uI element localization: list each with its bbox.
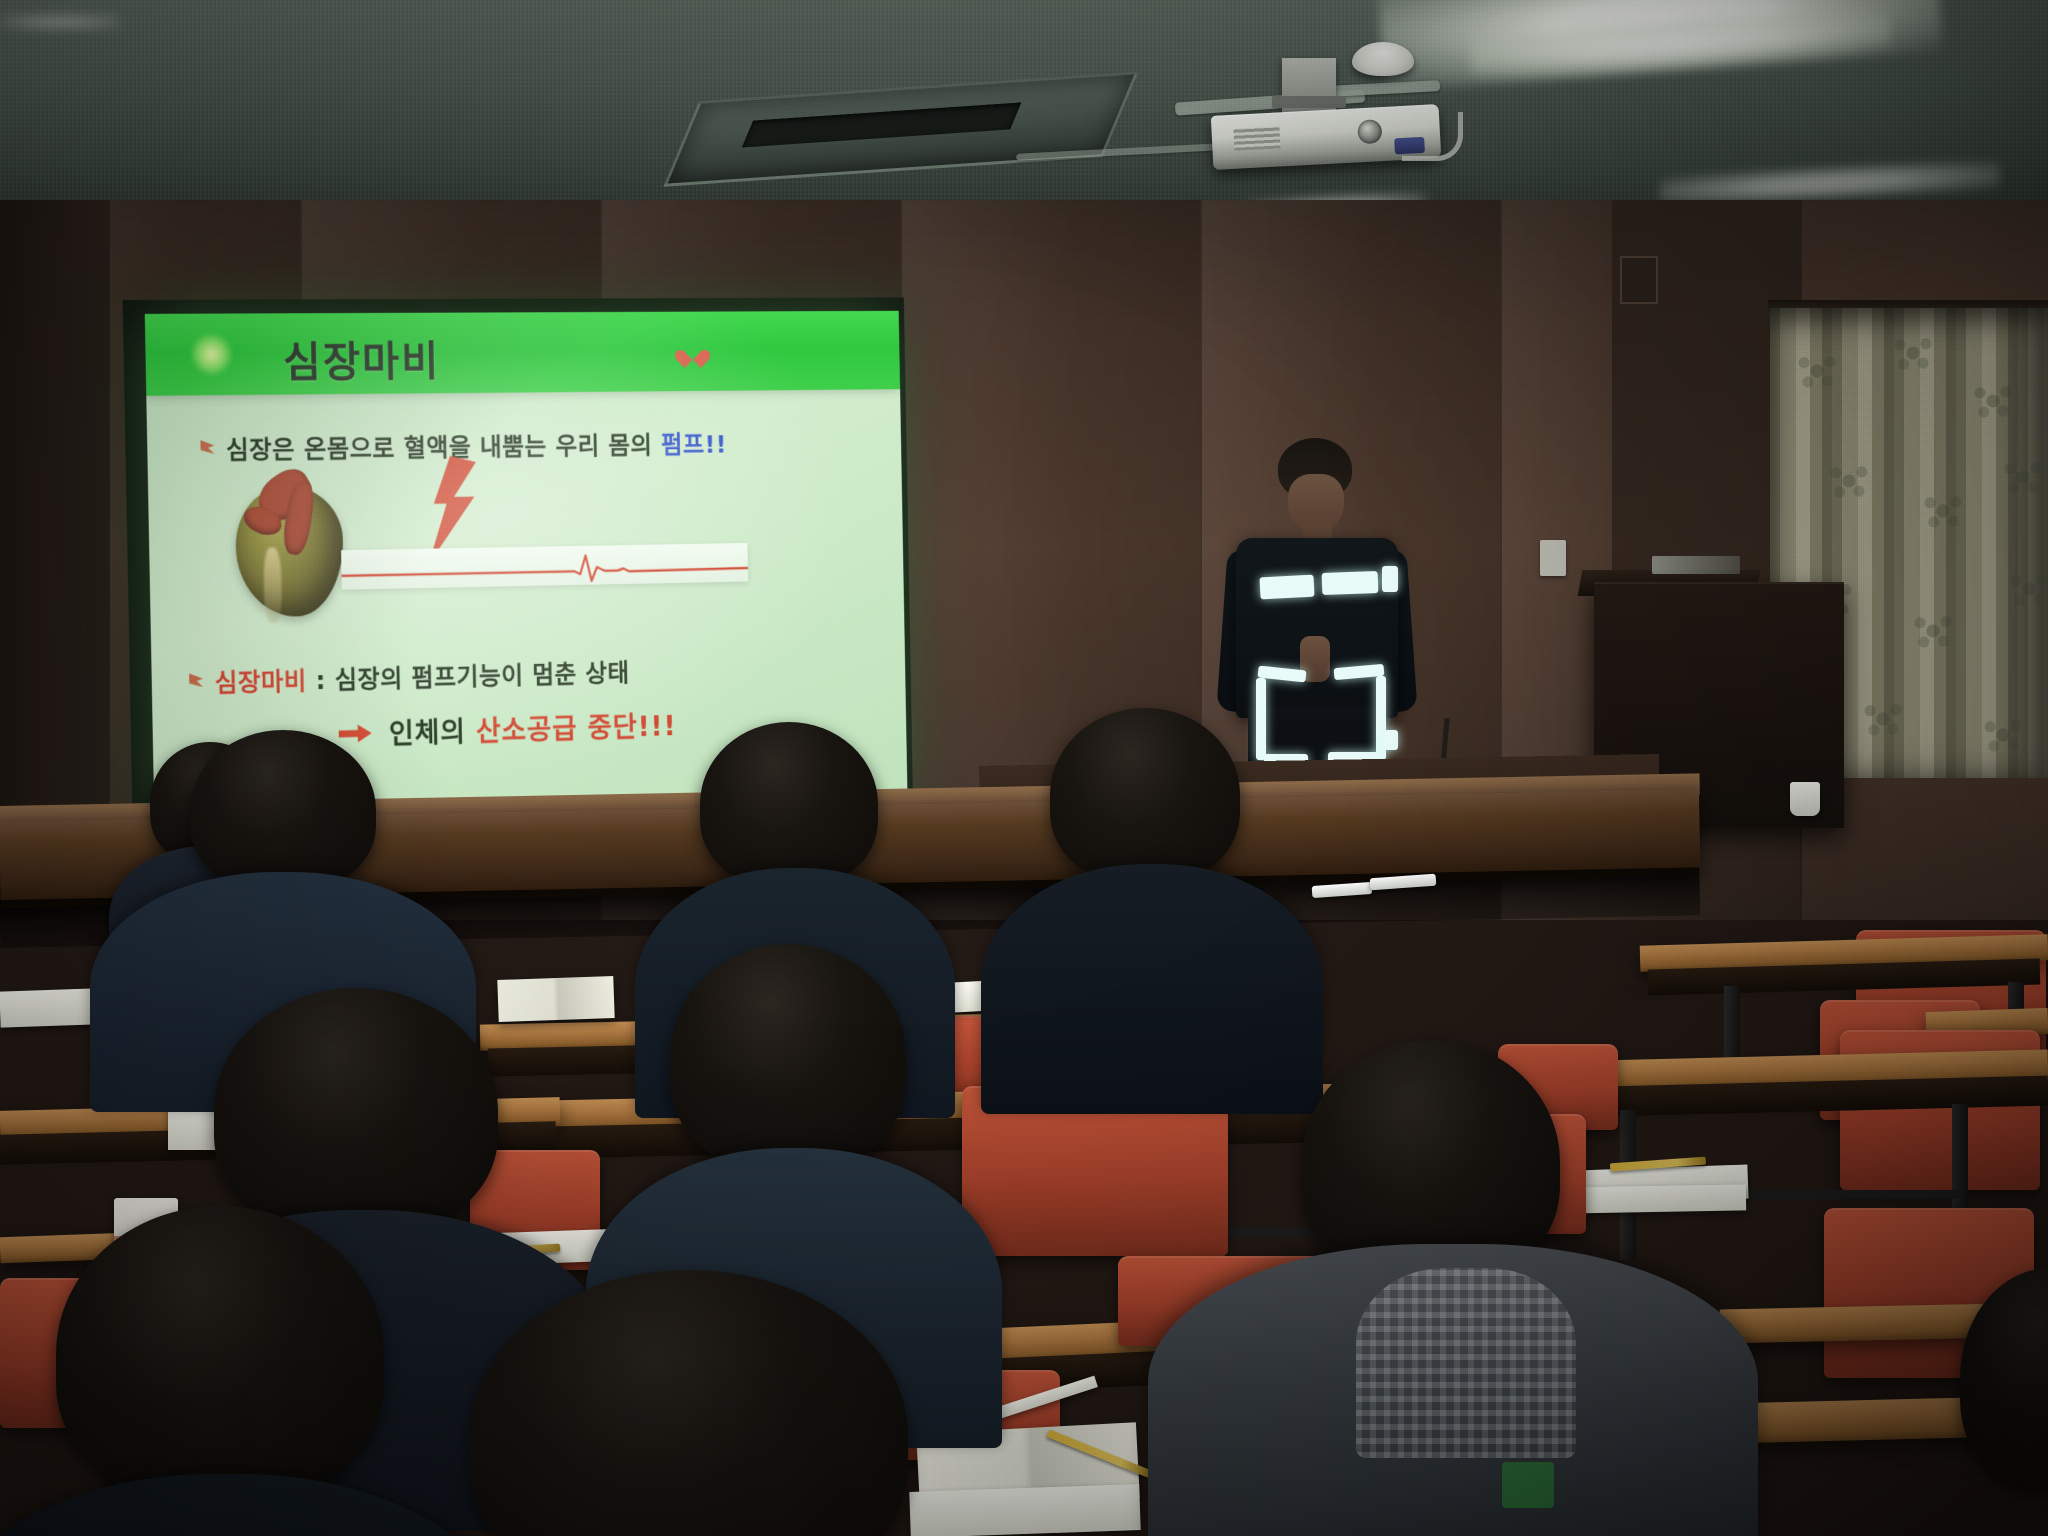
ecg-waveform-strip — [341, 543, 748, 590]
spark-bullet-icon — [189, 673, 203, 687]
head — [56, 1206, 384, 1502]
slide-header-band — [145, 311, 900, 396]
curtain-floral-motif — [2000, 454, 2046, 500]
conclusion-part-1: 인체의 — [389, 715, 477, 750]
attendee-far-right — [1960, 1268, 2048, 1468]
attendee-mid-right — [1050, 708, 1254, 888]
reflective-stripe — [1322, 571, 1379, 595]
projector-cable — [1402, 112, 1463, 161]
slide-title: 심장마비 — [283, 328, 441, 389]
spark-bullet-icon — [200, 440, 214, 454]
curtain-floral-motif — [1826, 458, 1872, 504]
heart-highlight — [263, 547, 282, 623]
attendee-plaid-shirt — [1356, 1268, 1576, 1458]
reflective-stripe — [1384, 730, 1398, 750]
projector-lens-icon — [1357, 119, 1382, 144]
attendee-back-row-left-2 — [168, 730, 398, 900]
projector-vent — [1233, 126, 1280, 150]
head — [1960, 1268, 2048, 1488]
stacked-documents[interactable] — [0, 988, 97, 1027]
curtain-floral-motif — [1794, 348, 1840, 394]
lecture-room-photo: 심장마비 심장은 온몸으로 혈액을 내뿜는 우리 몸의 펌프!! — [0, 0, 2048, 1536]
conclusion-part-2: 산소공급 중단!!! — [476, 710, 677, 748]
curtain-floral-motif — [1970, 378, 2016, 424]
stacked-documents[interactable] — [1560, 1184, 1746, 1213]
head — [1050, 708, 1240, 882]
bullet-1-part-2: 펌프!! — [661, 430, 727, 459]
reflective-stripe — [1256, 678, 1266, 760]
bullet-1-part-1: 심장은 온몸으로 혈액을 내뿜는 우리 몸의 — [226, 431, 661, 465]
reflective-stripe — [1259, 575, 1314, 600]
curtain-floral-motif — [2006, 566, 2048, 612]
attendee-front-left — [214, 988, 514, 1238]
shoulders — [981, 864, 1324, 1114]
curtain-floral-motif — [1890, 330, 1936, 376]
curtain-floral-motif — [1980, 712, 2026, 758]
notebook-pages[interactable] — [909, 1484, 1140, 1536]
head — [470, 1270, 908, 1536]
head — [214, 988, 498, 1234]
bullet-2-part-1: 심장마비 — [215, 667, 307, 698]
ecg-waveform-icon — [341, 543, 748, 590]
fluorescent-light-panel — [0, 14, 120, 30]
slide-bullet-2-text: 심장마비 : 심장의 펌프기능이 멈춘 상태 — [215, 654, 630, 700]
attendee-front-center — [670, 944, 918, 1180]
open-notebook[interactable] — [497, 976, 614, 1022]
attendee-foreground-center — [470, 1270, 920, 1536]
bullet-2-part-2: : 심장의 펌프기능이 멈춘 상태 — [306, 659, 629, 696]
slide-conclusion-text: 인체의 산소공급 중단!!! — [389, 705, 677, 752]
slide-bullet-2: 심장마비 : 심장의 펌프기능이 멈춘 상태 — [189, 654, 630, 701]
slide-bullet-1-text: 심장은 온몸으로 혈액을 내뿜는 우리 몸의 펌프!! — [226, 425, 727, 466]
wall-speaker — [1620, 256, 1658, 304]
vent-slot — [742, 102, 1022, 147]
light-switch[interactable] — [1540, 540, 1566, 576]
head — [700, 722, 878, 886]
attendee-front-lower-left — [56, 1206, 396, 1506]
podium-nameplate — [1652, 556, 1740, 574]
smoke-detector — [1352, 42, 1414, 76]
reflective-stripe — [1382, 566, 1398, 592]
paper-cup — [1790, 782, 1820, 816]
slide-header-glow — [191, 333, 233, 375]
small-heart-icon — [683, 346, 704, 365]
head — [190, 730, 376, 890]
attendee-mid-center — [700, 722, 890, 892]
curtain-floral-motif — [1920, 488, 1966, 534]
vest-logo-icon — [1502, 1462, 1554, 1508]
curtain-floral-motif — [1910, 608, 1956, 654]
curtain-floral-motif — [1860, 696, 1906, 742]
head — [670, 944, 906, 1170]
